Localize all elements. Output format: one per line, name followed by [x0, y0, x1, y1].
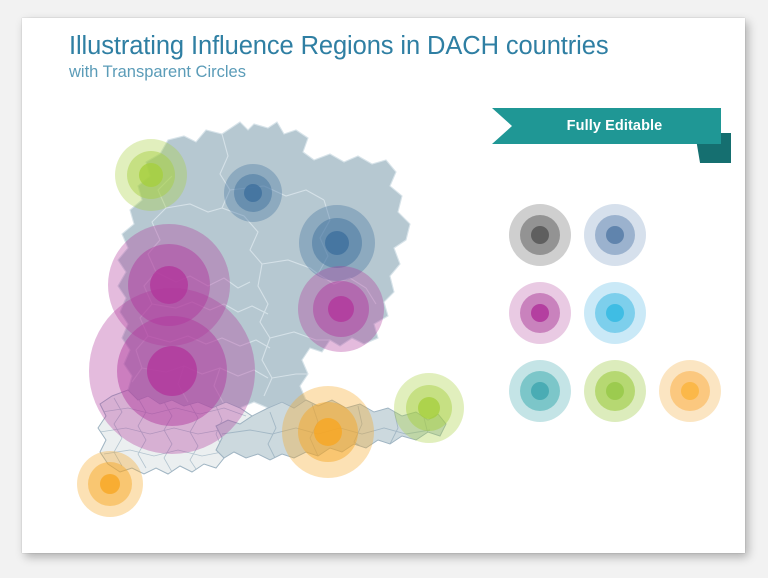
swatch-magenta-ring: [531, 304, 549, 322]
marker-blue-north[interactable]: [224, 164, 282, 222]
map-svg: [72, 116, 472, 526]
marker-orange-ch[interactable]: [77, 451, 143, 517]
swatch-gray-ring: [531, 226, 549, 244]
swatch-teal-ring: [531, 382, 549, 400]
marker-magenta-sw-ring: [147, 346, 197, 396]
swatch-blue-ring: [606, 226, 624, 244]
title-block: Illustrating Influence Regions in DACH c…: [69, 32, 608, 83]
marker-green-nw-ring: [139, 163, 163, 187]
swatch-teal[interactable]: [508, 359, 572, 423]
marker-orange-ch-ring: [100, 474, 120, 494]
ribbon-label: Fully Editable: [492, 108, 721, 144]
swatch-magenta[interactable]: [508, 281, 572, 345]
swatch-sky[interactable]: [583, 281, 647, 345]
swatch-green-ring: [606, 382, 624, 400]
marker-blue-east-ring: [325, 231, 349, 255]
swatch-blue-svg: [583, 203, 647, 267]
swatch-orange-ring: [681, 382, 699, 400]
page-subtitle: with Transparent Circles: [69, 62, 608, 83]
marker-orange-at-ring: [314, 418, 342, 446]
swatch-magenta-svg: [508, 281, 572, 345]
swatch-blue[interactable]: [583, 203, 647, 267]
fully-editable-ribbon[interactable]: Fully Editable: [492, 108, 745, 168]
marker-magenta-se[interactable]: [298, 266, 384, 352]
swatch-teal-svg: [508, 359, 572, 423]
marker-blue-north-ring: [244, 184, 262, 202]
marker-magenta-sw[interactable]: [89, 288, 255, 454]
swatch-sky-ring: [606, 304, 624, 322]
swatch-gray[interactable]: [508, 203, 572, 267]
marker-green-nw[interactable]: [115, 139, 187, 211]
page-title: Illustrating Influence Regions in DACH c…: [69, 32, 608, 60]
swatch-orange[interactable]: [658, 359, 722, 423]
slide-canvas: Illustrating Influence Regions in DACH c…: [22, 18, 745, 553]
swatch-green[interactable]: [583, 359, 647, 423]
marker-magenta-se-ring: [328, 296, 354, 322]
swatch-orange-svg: [658, 359, 722, 423]
swatch-sky-svg: [583, 281, 647, 345]
marker-green-east[interactable]: [394, 373, 464, 443]
color-swatch-legend: [508, 203, 728, 428]
dach-map[interactable]: [72, 116, 472, 526]
swatch-green-svg: [583, 359, 647, 423]
marker-orange-at[interactable]: [282, 386, 374, 478]
marker-green-east-ring: [418, 397, 440, 419]
swatch-gray-svg: [508, 203, 572, 267]
